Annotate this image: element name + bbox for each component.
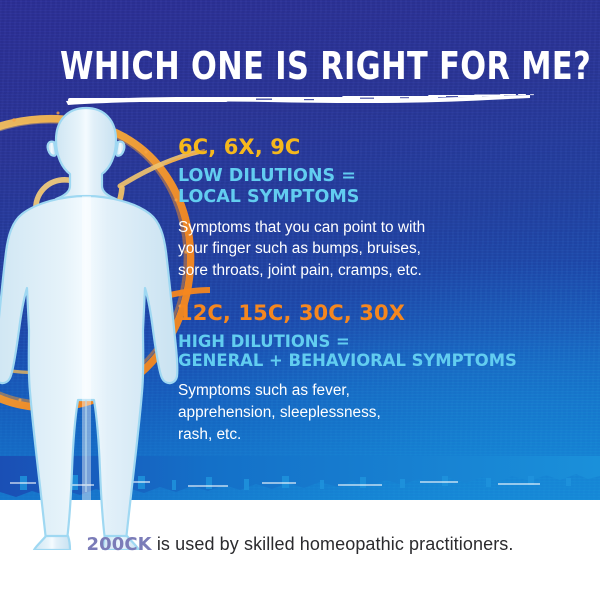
dilution-label-high: 12C, 15C, 30C, 30X: [178, 302, 578, 326]
body-low: Symptoms that you can point to with your…: [178, 217, 578, 283]
page-title: WHICH ONE IS RIGHT FOR ME?: [60, 44, 540, 88]
dilution-label-low: 6C, 6X, 9C: [178, 136, 578, 160]
subhead-high-line2: GENERAL + BEHAVIORAL SYMPTOMS: [178, 351, 578, 371]
subhead-low-line2: LOCAL SYMPTOMS: [178, 187, 578, 208]
subhead-high: HIGH DILUTIONS = GENERAL + BEHAVIORAL SY…: [178, 332, 578, 371]
body-high-line1: Symptoms such as fever,: [178, 380, 578, 402]
body-high: Symptoms such as fever, apprehension, sl…: [178, 380, 578, 446]
infographic-poster: WHICH ONE IS RIGHT FOR ME?: [0, 0, 600, 600]
subhead-high-line1: HIGH DILUTIONS =: [178, 332, 578, 352]
subhead-low-line1: LOW DILUTIONS =: [178, 166, 578, 187]
body-low-line3: sore throats, joint pain, cramps, etc.: [178, 260, 578, 282]
body-high-line2: apprehension, sleeplessness,: [178, 402, 578, 424]
human-body-silhouette-icon: [0, 100, 202, 550]
subhead-low: LOW DILUTIONS = LOCAL SYMPTOMS: [178, 166, 578, 208]
content-column: 6C, 6X, 9C LOW DILUTIONS = LOCAL SYMPTOM…: [178, 136, 578, 462]
dilution-section-low: 6C, 6X, 9C LOW DILUTIONS = LOCAL SYMPTOM…: [178, 136, 578, 282]
body-high-line3: rash, etc.: [178, 424, 578, 446]
dilution-section-high: 12C, 15C, 30C, 30X HIGH DILUTIONS = GENE…: [178, 302, 578, 446]
body-low-line1: Symptoms that you can point to with: [178, 217, 578, 239]
footer-text: is used by skilled homeopathic practitio…: [152, 534, 514, 554]
body-low-line2: your finger such as bumps, bruises,: [178, 238, 578, 260]
footer-code: 200CK: [86, 534, 151, 555]
footer-note: 200CK is used by skilled homeopathic pra…: [0, 534, 600, 555]
